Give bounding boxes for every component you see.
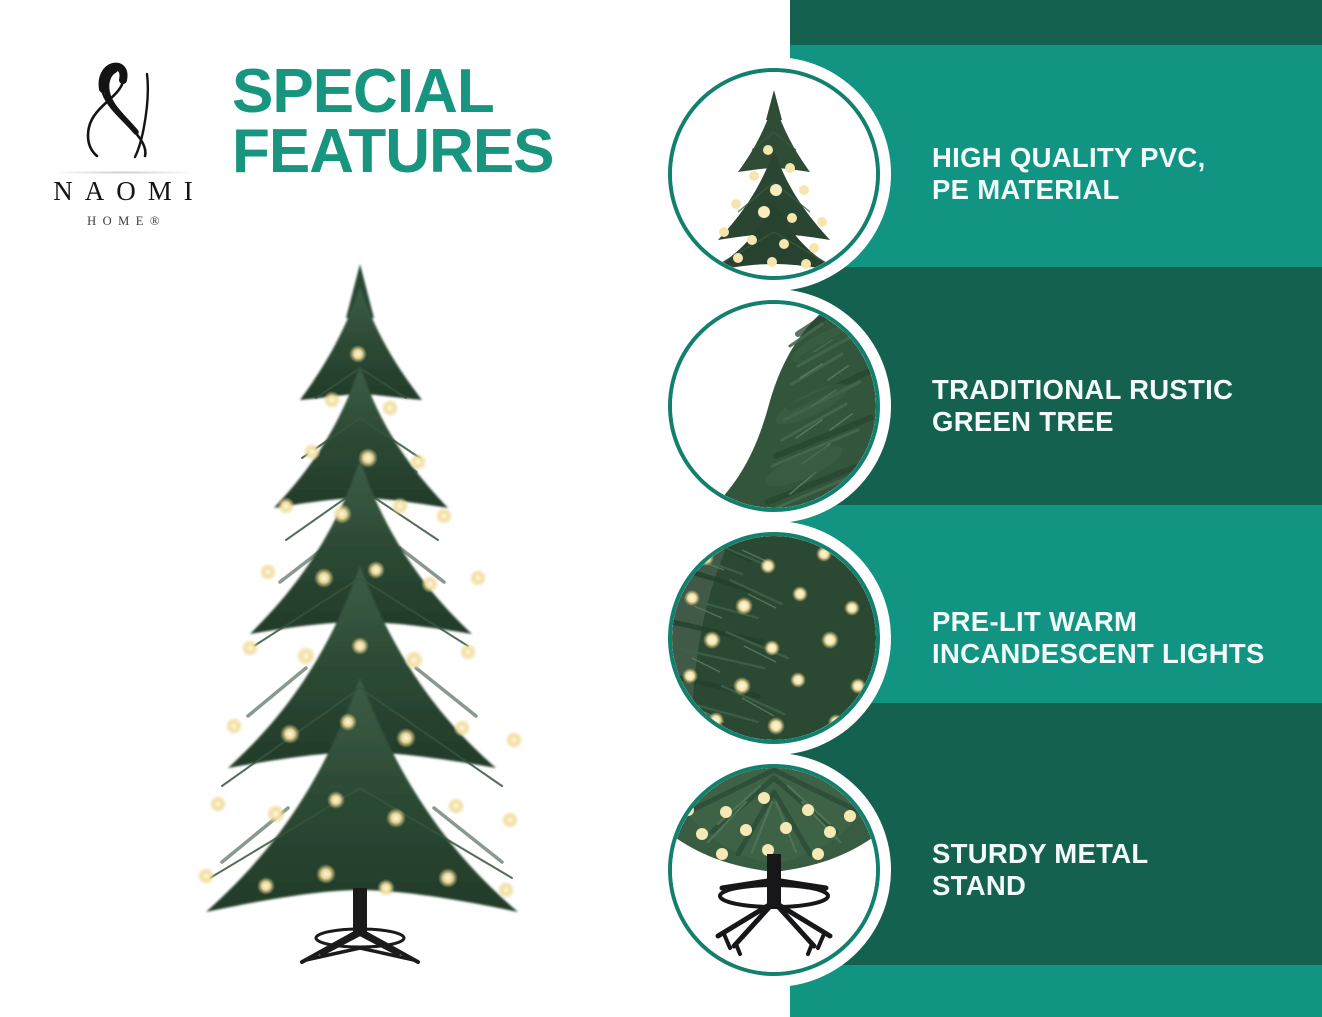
feature-row-2[interactable]: TRADITIONAL RUSTIC GREEN TREE (640, 290, 1322, 522)
feature-2-line-1: TRADITIONAL RUSTIC (932, 374, 1233, 405)
feature-1-line-2: PE MATERIAL (932, 174, 1120, 205)
title-line-1: SPECIAL (232, 57, 494, 126)
feature-3-line-1: PRE-LIT WARM (932, 606, 1137, 637)
feature-2-thumbnail[interactable] (658, 290, 890, 522)
metal-stand-thumbnail-icon (672, 768, 876, 972)
feature-4-line-2: STAND (932, 870, 1026, 901)
feature-3-thumbnail[interactable] (658, 522, 890, 754)
feature-4-line-1: STURDY METAL (932, 838, 1148, 869)
feature-row-4[interactable]: STURDY METAL STAND (640, 754, 1322, 986)
logo-shadow-rule (48, 171, 198, 174)
feature-1-ring (668, 68, 880, 280)
full-tree-thumbnail-icon (672, 72, 876, 276)
top-dark-band (790, 0, 1322, 45)
feature-row-3[interactable]: PRE-LIT WARM INCANDESCENT LIGHTS (640, 522, 1322, 754)
feature-2-ring (668, 300, 880, 512)
feature-4-thumbnail[interactable] (658, 754, 890, 986)
page-title: SPECIAL FEATURES (232, 62, 662, 182)
feature-2-label: TRADITIONAL RUSTIC GREEN TREE (932, 290, 1316, 522)
naomi-script-n-monogram-icon (18, 60, 228, 165)
green-branch-closeup-thumbnail-icon (672, 304, 876, 508)
feature-4-label: STURDY METAL STAND (932, 754, 1316, 986)
warm-lights-closeup-thumbnail-icon (672, 536, 876, 740)
feature-3-ring (668, 532, 880, 744)
feature-row-1[interactable]: HIGH QUALITY PVC, PE MATERIAL (640, 58, 1322, 290)
brand-logo: NAOMI HOME® (18, 60, 228, 229)
brand-name: NAOMI (18, 176, 228, 207)
feature-2-line-2: GREEN TREE (932, 406, 1114, 437)
feature-1-thumbnail[interactable] (658, 58, 890, 290)
feature-4-ring (668, 764, 880, 976)
feature-3-label: PRE-LIT WARM INCANDESCENT LIGHTS (932, 522, 1316, 754)
title-line-2: FEATURES (232, 122, 662, 182)
brand-tagline: HOME® (18, 214, 228, 229)
feature-1-label: HIGH QUALITY PVC, PE MATERIAL (932, 58, 1316, 290)
feature-3-line-2: INCANDESCENT LIGHTS (932, 638, 1265, 669)
hero-product-image (110, 248, 610, 968)
feature-1-line-1: HIGH QUALITY PVC, (932, 142, 1206, 173)
poster-canvas: NAOMI HOME® SPECIAL FEATURES (0, 0, 1322, 1017)
